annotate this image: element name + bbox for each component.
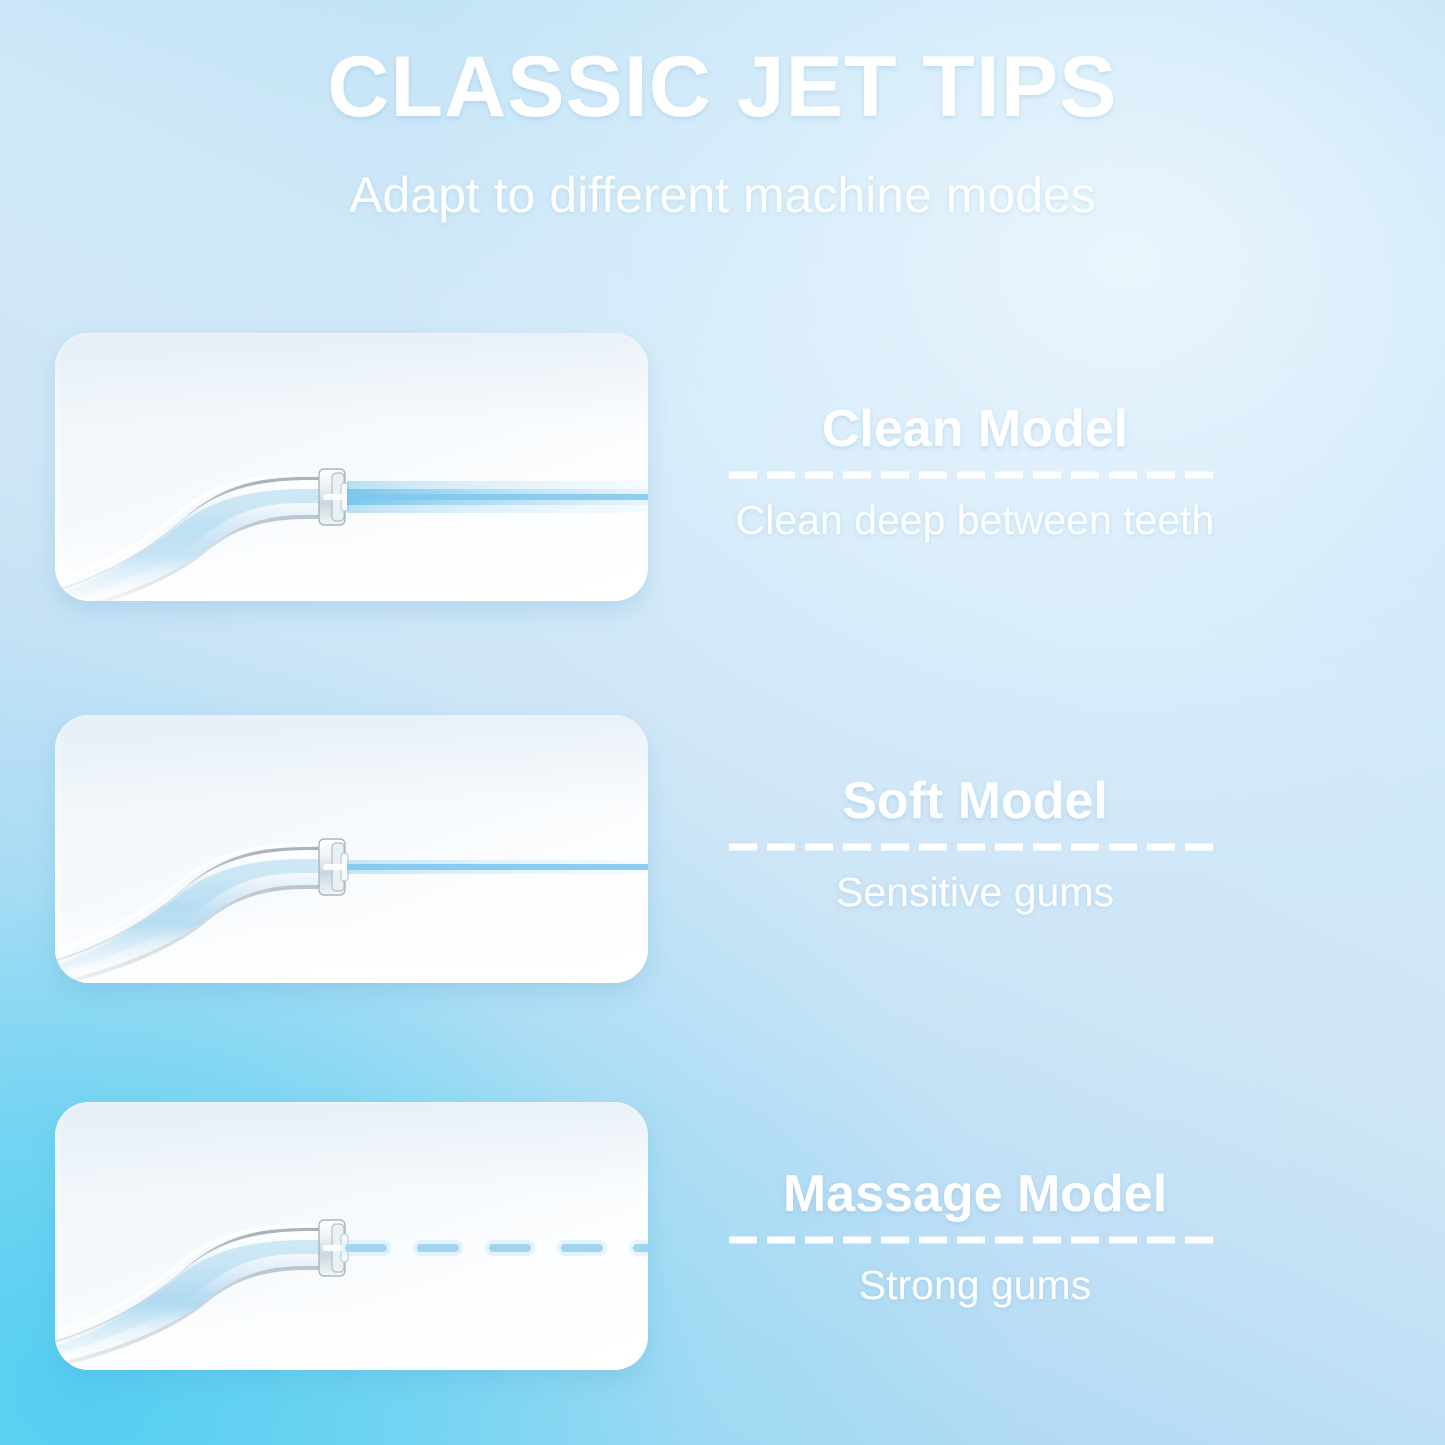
jet-tip-image-massage xyxy=(55,1102,648,1370)
mode-info-soft: Soft Model Sensitive gums xyxy=(705,774,1245,914)
jet-tip-image-clean xyxy=(55,333,648,601)
mode-desc-clean: Clean deep between teeth xyxy=(705,479,1245,542)
product-infographic-poster: CLASSIC JET TIPS Adapt to different mach… xyxy=(0,0,1445,1445)
product-card-clean xyxy=(55,333,648,601)
product-card-soft xyxy=(55,715,648,983)
dashed-divider-clean xyxy=(727,471,1223,479)
mode-title-massage: Massage Model xyxy=(705,1167,1245,1222)
product-card-massage xyxy=(55,1102,648,1370)
page-subtitle: Adapt to different machine modes xyxy=(0,130,1445,220)
mode-row-soft: Soft Model Sensitive gums xyxy=(0,702,1445,992)
mode-desc-soft: Sensitive gums xyxy=(705,851,1245,914)
mode-info-massage: Massage Model Strong gums xyxy=(705,1167,1245,1307)
page-title: CLASSIC JET TIPS xyxy=(0,44,1445,130)
poster-header: CLASSIC JET TIPS Adapt to different mach… xyxy=(0,0,1445,220)
mode-desc-massage: Strong gums xyxy=(705,1244,1245,1307)
dashed-divider-massage xyxy=(727,1236,1223,1244)
mode-row-clean: Clean Model Clean deep between teeth xyxy=(0,320,1445,610)
mode-title-clean: Clean Model xyxy=(705,402,1245,457)
mode-info-clean: Clean Model Clean deep between teeth xyxy=(705,402,1245,542)
dashed-divider-soft xyxy=(727,843,1223,851)
mode-title-soft: Soft Model xyxy=(705,774,1245,829)
jet-tip-image-soft xyxy=(55,715,648,983)
mode-row-massage: Massage Model Strong gums xyxy=(0,1089,1445,1379)
